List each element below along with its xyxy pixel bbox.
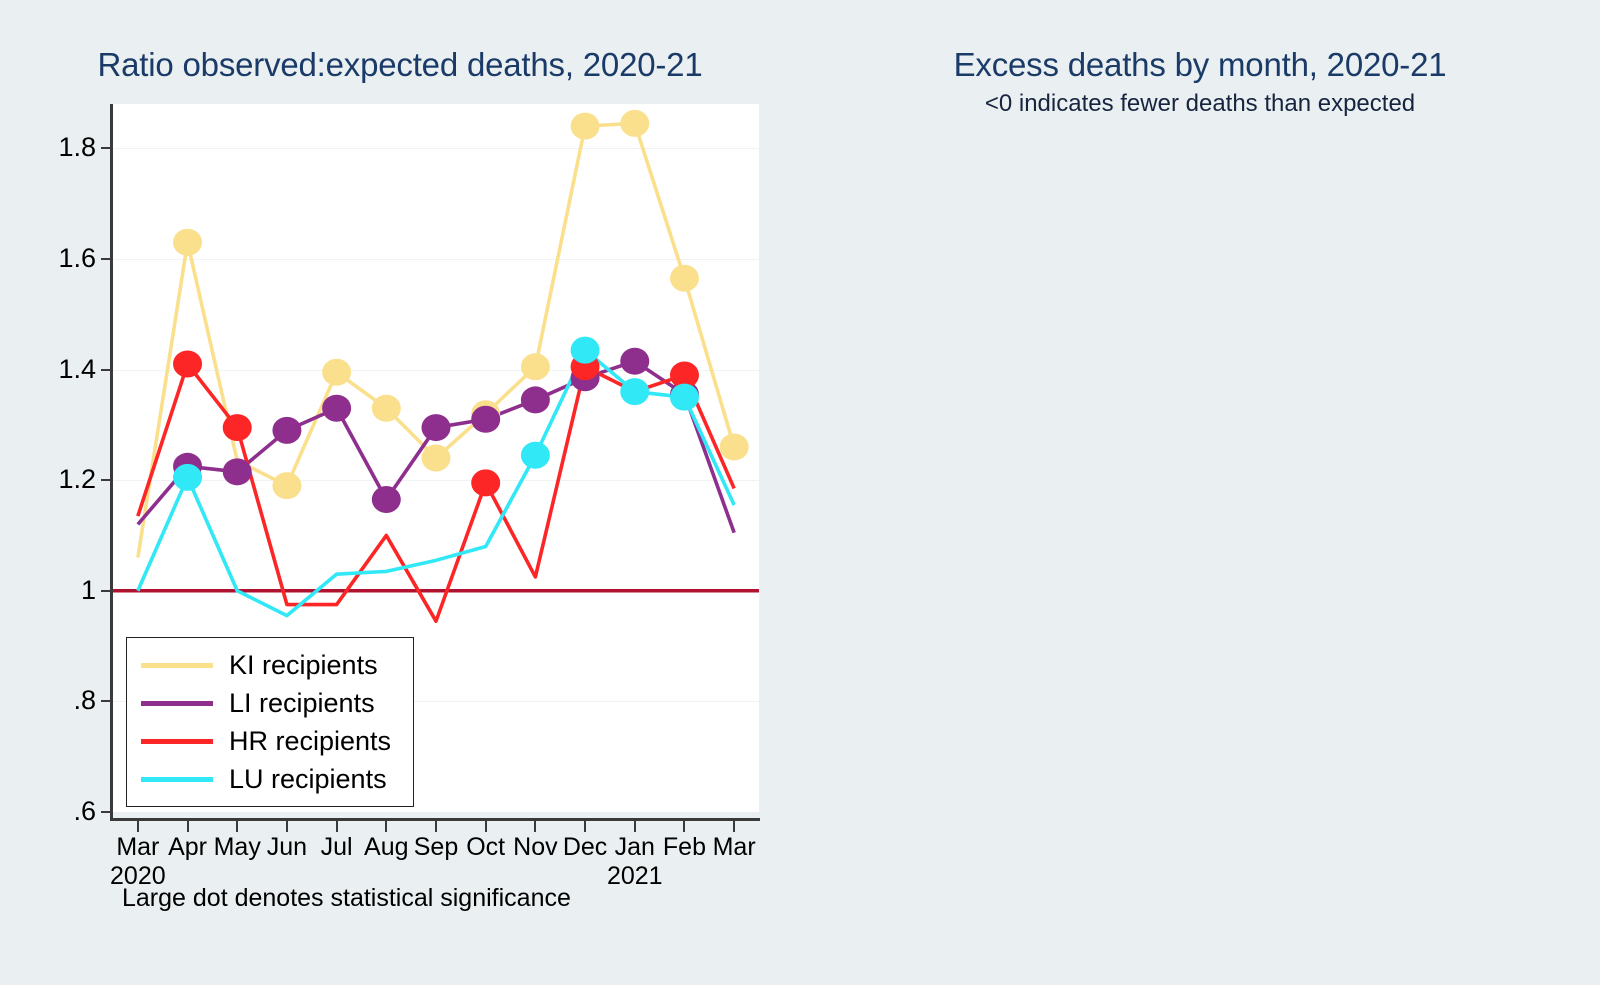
- left-chart-panel: Ratio observed:expected deaths, 2020-21 …: [0, 0, 800, 985]
- left-significance-dot-LI: [422, 414, 451, 441]
- left-significance-dot-HR: [223, 414, 252, 441]
- left-legend-item: KI recipients: [127, 646, 413, 684]
- left-legend-item: HR recipients: [127, 722, 413, 760]
- left-significance-dot-KI: [173, 229, 202, 256]
- left-significance-dot-HR: [471, 469, 500, 496]
- left-significance-dot-LU: [571, 337, 600, 364]
- left-significance-dot-KI: [372, 395, 401, 422]
- left-legend-item: LI recipients: [127, 684, 413, 722]
- left-significance-dot-KI: [670, 265, 699, 292]
- left-chart-footnote: Large dot denotes statistical significan…: [122, 884, 571, 913]
- left-significance-dot-KI: [422, 445, 451, 472]
- left-significance-dot-KI: [521, 353, 550, 380]
- left-legend-swatch-LU: [141, 777, 213, 782]
- left-significance-dot-LI: [272, 417, 301, 444]
- left-legend-label: KI recipients: [229, 650, 378, 681]
- right-series-svg: [800, 0, 1600, 985]
- left-series-line-HR: [138, 364, 734, 621]
- left-significance-dot-LU: [521, 442, 550, 469]
- left-legend-item: LU recipients: [127, 760, 413, 798]
- left-significance-dot-KI: [571, 113, 600, 140]
- chart-page: Ratio observed:expected deaths, 2020-21 …: [0, 0, 1600, 985]
- left-significance-dot-LI: [471, 406, 500, 433]
- left-legend-swatch-HR: [141, 739, 213, 744]
- left-legend-label: LI recipients: [229, 688, 375, 719]
- left-significance-dot-LU: [173, 464, 202, 491]
- left-legend-label: HR recipients: [229, 726, 391, 757]
- left-significance-dot-KI: [620, 110, 649, 137]
- left-significance-dot-LI: [372, 486, 401, 513]
- left-series-svg: [0, 0, 800, 985]
- left-significance-dot-LU: [620, 378, 649, 405]
- left-legend-label: LU recipients: [229, 764, 387, 795]
- left-legend-swatch-LI: [141, 701, 213, 706]
- left-significance-dot-LI: [620, 348, 649, 375]
- left-legend: KI recipientsLI recipientsHR recipientsL…: [126, 637, 414, 807]
- left-significance-dot-LU: [670, 384, 699, 411]
- right-chart-panel: Excess deaths by month, 2020-21 <0 indic…: [800, 0, 1600, 985]
- left-significance-dot-HR: [173, 350, 202, 377]
- left-significance-dot-KI: [322, 359, 351, 386]
- left-significance-dot-KI: [720, 433, 749, 460]
- left-series-line-KI: [138, 123, 734, 557]
- left-significance-dot-KI: [272, 472, 301, 499]
- left-significance-dot-LI: [223, 458, 252, 485]
- left-significance-dot-LI: [521, 386, 550, 413]
- left-legend-swatch-KI: [141, 663, 213, 668]
- left-significance-dot-LI: [322, 395, 351, 422]
